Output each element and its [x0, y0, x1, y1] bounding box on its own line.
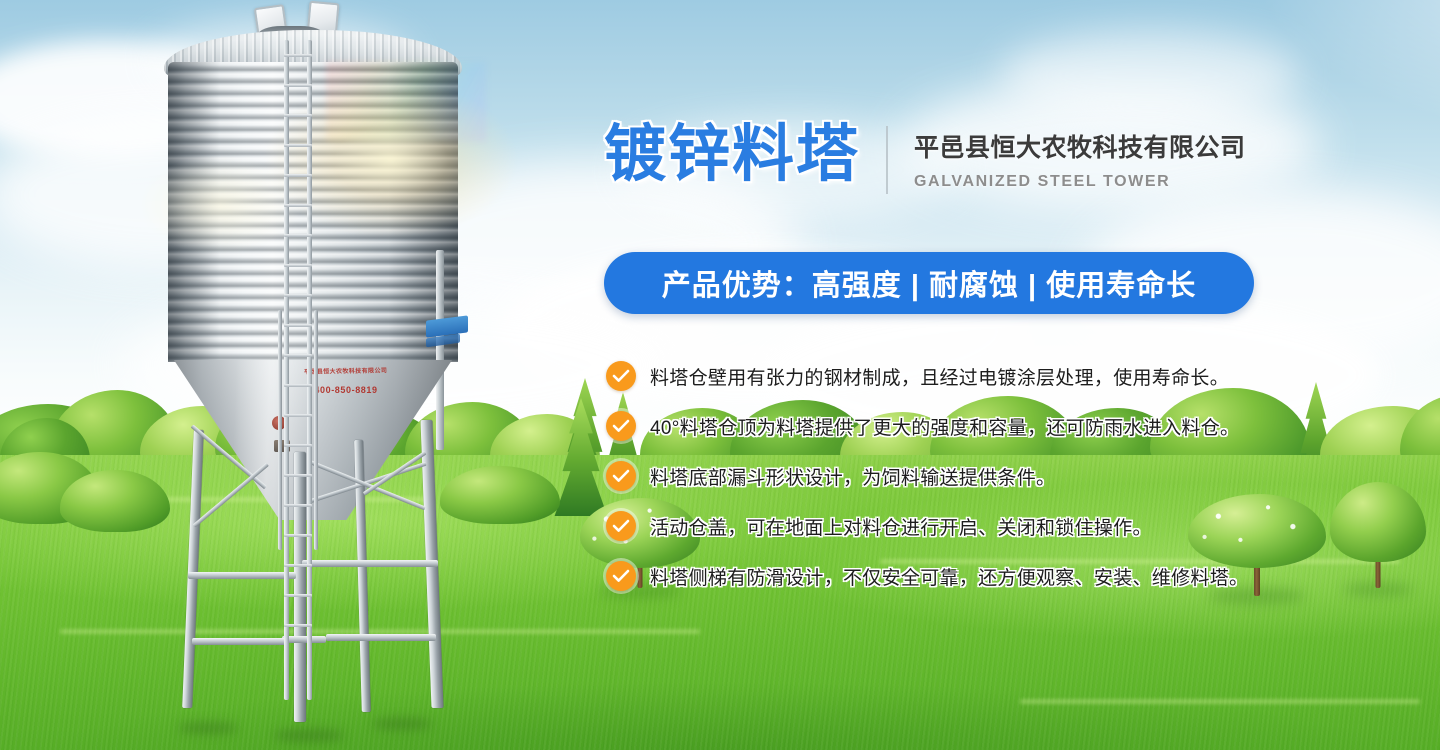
- check-circle-icon: [606, 511, 636, 541]
- title-row: 镀锌料塔 平邑县恒大农牧科技有限公司 GALVANIZED STEEL TOWE…: [604, 120, 1246, 194]
- feature-text: 料塔侧梯有防滑设计，不仅安全可靠，还方便观察、安装、维修料塔。: [650, 563, 1248, 590]
- feature-text: 料塔底部漏斗形状设计，为饲料输送提供条件。: [650, 463, 1055, 490]
- check-circle-icon: [606, 411, 636, 441]
- check-circle-icon: [606, 361, 636, 391]
- company-block: 平邑县恒大农牧科技有限公司 GALVANIZED STEEL TOWER: [914, 120, 1246, 191]
- list-item: 料塔仓壁用有张力的钢材制成，且经过电镀涂层处理，使用寿命长。: [606, 358, 1306, 394]
- check-circle-icon: [606, 461, 636, 491]
- feature-list: 料塔仓壁用有张力的钢材制成，且经过电镀涂层处理，使用寿命长。 40°料塔仓顶为料…: [606, 358, 1306, 608]
- company-name-en: GALVANIZED STEEL TOWER: [914, 173, 1246, 191]
- feature-text: 40°料塔仓顶为料塔提供了更大的强度和容量，还可防雨水进入料仓。: [650, 413, 1239, 440]
- check-circle-icon: [606, 561, 636, 591]
- list-item: 料塔底部漏斗形状设计，为饲料输送提供条件。: [606, 458, 1306, 494]
- title-divider: [886, 126, 888, 194]
- list-item: 40°料塔仓顶为料塔提供了更大的强度和容量，还可防雨水进入料仓。: [606, 408, 1306, 444]
- feature-text: 料塔仓壁用有张力的钢材制成，且经过电镀涂层处理，使用寿命长。: [650, 363, 1229, 390]
- page-title: 镀锌料塔: [604, 120, 860, 190]
- company-name: 平邑县恒大农牧科技有限公司: [914, 128, 1246, 164]
- product-advantage-banner: 产品优势：高强度 | 耐腐蚀 | 使用寿命长: [604, 252, 1254, 314]
- hero-text-panel: 镀锌料塔 平邑县恒大农牧科技有限公司 GALVANIZED STEEL TOWE…: [0, 0, 1440, 750]
- list-item: 料塔侧梯有防滑设计，不仅安全可靠，还方便观察、安装、维修料塔。: [606, 558, 1306, 594]
- product-advantage-text: 产品优势：高强度 | 耐腐蚀 | 使用寿命长: [662, 262, 1196, 304]
- list-item: 活动仓盖，可在地面上对料仓进行开启、关闭和锁住操作。: [606, 508, 1306, 544]
- feature-text: 活动仓盖，可在地面上对料仓进行开启、关闭和锁住操作。: [650, 513, 1152, 540]
